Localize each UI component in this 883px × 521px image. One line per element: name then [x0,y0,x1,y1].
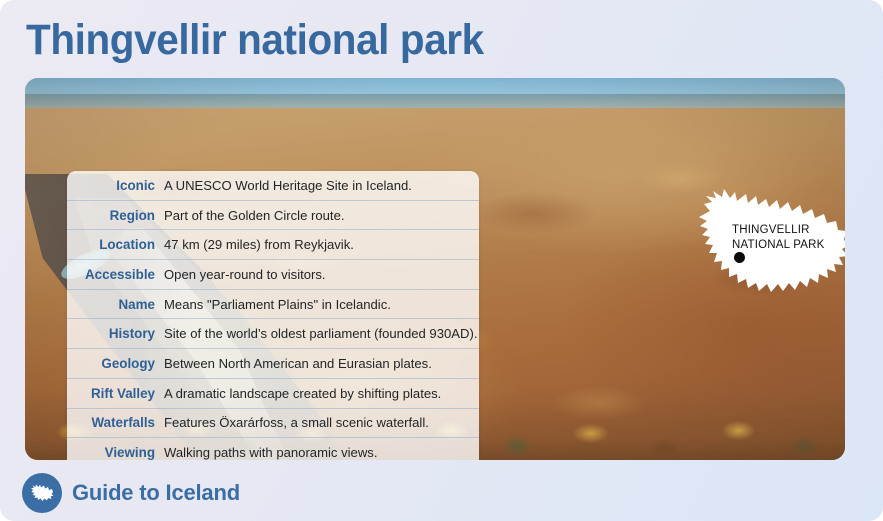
fact-label: Region [67,208,164,223]
guide-to-iceland-logo[interactable] [22,473,62,513]
table-row: History Site of the world’s oldest parli… [67,319,479,349]
fact-label: Iconic [67,178,164,193]
table-row: Waterfalls Features Öxarárfoss, a small … [67,409,479,439]
facts-table: Iconic A UNESCO World Heritage Site in I… [67,171,479,460]
fact-value: Part of the Golden Circle route. [164,208,479,223]
fact-label: Waterfalls [67,415,164,430]
fact-label: Accessible [67,267,164,282]
fact-value: Between North American and Eurasian plat… [164,356,479,371]
fact-value: A dramatic landscape created by shifting… [164,386,479,401]
inset-label-line1: THINGVELLIR [732,224,810,236]
fact-value: 47 km (29 miles) from Reykjavik. [164,237,479,252]
page-title: Thingvellir national park [26,11,797,69]
fact-label: History [67,326,164,341]
iceland-inset-map: THINGVELLIR NATIONAL PARK [676,183,845,308]
fact-label: Geology [67,356,164,371]
brand-footer[interactable]: Guide to Iceland [22,473,240,513]
fact-value: Features Öxarárfoss, a small scenic wate… [164,415,479,430]
table-row: Rift Valley A dramatic landscape created… [67,379,479,409]
park-location-marker [734,252,745,263]
table-row: Viewing Walking paths with panoramic vie… [67,438,479,460]
table-row: Accessible Open year-round to visitors. [67,260,479,290]
inset-map-label: THINGVELLIR NATIONAL PARK [732,223,825,253]
table-row: Location 47 km (29 miles) from Reykjavik… [67,230,479,260]
brand-name: Guide to Iceland [72,480,240,506]
hero-photo: THINGVELLIR NATIONAL PARK Iconic A UNESC… [25,78,845,460]
fact-value: Site of the world’s oldest parliament (f… [164,326,479,341]
fact-value: Open year-round to visitors. [164,267,479,282]
fact-value: Means "Parliament Plains" in Icelandic. [164,297,479,312]
fact-value: A UNESCO World Heritage Site in Iceland. [164,178,479,193]
iceland-logo-icon [31,485,54,502]
fact-label: Name [67,297,164,312]
table-row: Iconic A UNESCO World Heritage Site in I… [67,171,479,201]
fact-value: Walking paths with panoramic views. [164,445,479,460]
table-row: Geology Between North American and Euras… [67,349,479,379]
table-row: Region Part of the Golden Circle route. [67,201,479,231]
table-row: Name Means "Parliament Plains" in Icelan… [67,290,479,320]
fact-label: Viewing [67,445,164,460]
fact-label: Rift Valley [67,386,164,401]
fact-label: Location [67,237,164,252]
inset-label-line2: NATIONAL PARK [732,239,825,251]
infographic-card: Thingvellir national park THINGVELLIR NA… [0,0,883,521]
